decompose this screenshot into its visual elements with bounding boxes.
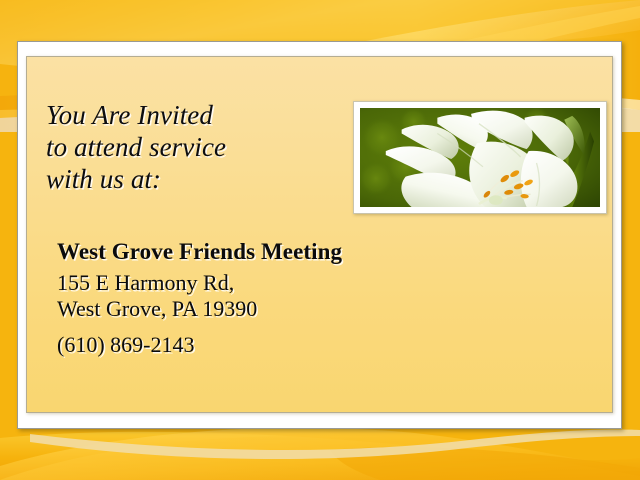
organization-name: West Grove Friends Meeting	[57, 238, 437, 266]
lily-photo-frame	[353, 101, 607, 214]
organization-block: West Grove Friends Meeting 155 E Harmony…	[57, 238, 437, 358]
invitation-heading-line-1: You Are Invited	[46, 99, 366, 131]
organization-address: 155 E Harmony Rd, West Grove, PA 19390	[57, 270, 437, 322]
invitation-heading-line-2: to attend service	[46, 131, 366, 163]
invitation-slide: You Are Invited to attend service with u…	[0, 0, 640, 480]
invitation-heading: You Are Invited to attend service with u…	[46, 99, 366, 195]
easter-lily-illustration	[360, 108, 600, 207]
invitation-heading-line-3: with us at:	[46, 163, 366, 195]
address-line-1: 155 E Harmony Rd,	[57, 270, 437, 296]
address-line-2: West Grove, PA 19390	[57, 296, 437, 322]
content-panel: You Are Invited to attend service with u…	[26, 56, 613, 413]
lily-photo-image	[360, 108, 600, 207]
organization-phone: (610) 869-2143	[57, 332, 437, 358]
